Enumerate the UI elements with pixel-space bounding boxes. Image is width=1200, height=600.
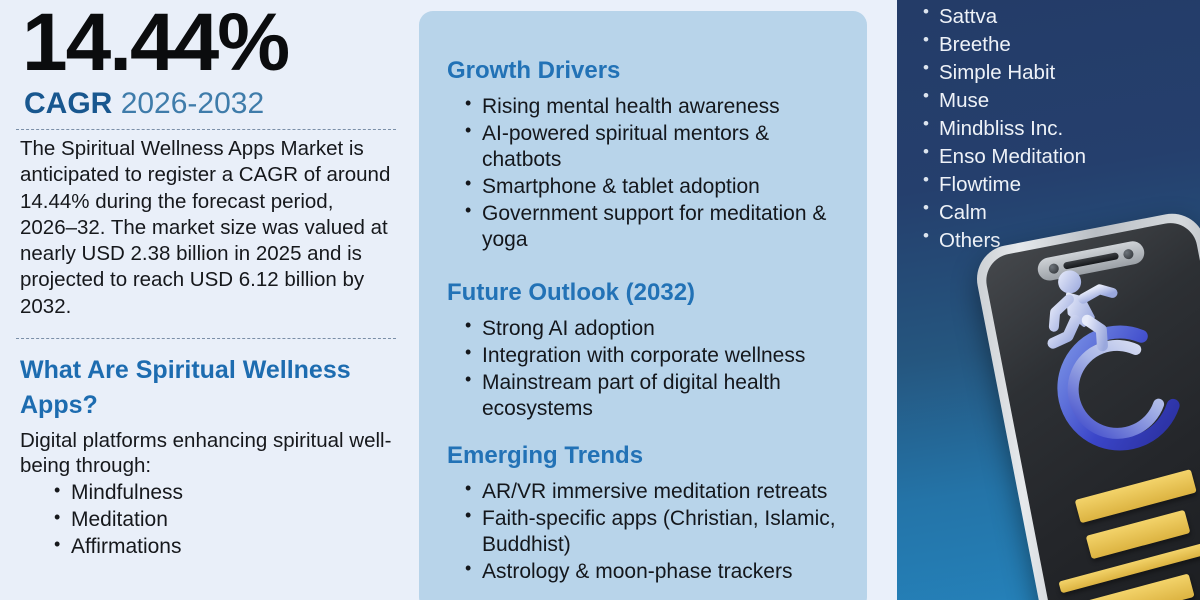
definition-lead: Digital platforms enhancing spiritual we…: [14, 428, 400, 478]
list-item: Flowtime: [923, 172, 1200, 197]
growth-drivers-list: Rising mental health awareness AI-powere…: [447, 94, 851, 253]
phone-body: [971, 208, 1200, 600]
list-item: Integration with corporate wellness: [465, 343, 851, 369]
future-outlook-list: Strong AI adoption Integration with corp…: [447, 316, 851, 422]
list-item: Muse: [923, 88, 1200, 113]
phone-screen: [982, 218, 1200, 600]
list-item: AI-powered spiritual mentors & chatbots: [465, 121, 851, 173]
list-item: Simple Habit: [923, 60, 1200, 85]
list-item: Mindbliss Inc.: [923, 116, 1200, 141]
list-item: Faith-specific apps (Christian, Islamic,…: [465, 506, 851, 558]
list-item: AR/VR immersive meditation retreats: [465, 479, 851, 505]
cagr-subtitle: CAGR 2026-2032: [14, 87, 400, 122]
list-item: Sattva: [923, 4, 1200, 29]
left-stats-panel: 14.44% CAGR 2026-2032 The Spiritual Well…: [0, 0, 410, 600]
emerging-trends-heading: Emerging Trends: [447, 442, 851, 470]
running-figure-icon: [1034, 259, 1136, 364]
divider-bottom: [16, 338, 396, 339]
middle-insights-card: Growth Drivers Rising mental health awar…: [419, 11, 867, 600]
list-item: Enso Meditation: [923, 144, 1200, 169]
infographic-root: 14.44% CAGR 2026-2032 The Spiritual Well…: [0, 0, 1200, 600]
market-summary-text: The Spiritual Wellness Apps Market is an…: [14, 136, 400, 320]
list-item: Affirmations: [54, 534, 400, 561]
list-item: Smartphone & tablet adoption: [465, 174, 851, 200]
list-item: Rising mental health awareness: [465, 94, 851, 120]
list-item: Meditation: [54, 507, 400, 534]
future-outlook-heading: Future Outlook (2032): [447, 279, 851, 307]
emerging-trends-list: AR/VR immersive meditation retreats Fait…: [447, 479, 851, 585]
smartphone-illustration: [897, 212, 1200, 600]
list-item: Breethe: [923, 32, 1200, 57]
growth-drivers-heading: Growth Drivers: [447, 57, 851, 85]
definition-heading: What Are Spiritual Wellness Apps?: [14, 353, 400, 424]
cagr-label: CAGR: [24, 87, 112, 120]
right-companies-panel: Sattva Breethe Simple Habit Muse Mindbli…: [897, 0, 1200, 600]
list-item: Government support for meditation & yoga: [465, 201, 851, 253]
divider-top: [16, 129, 396, 130]
cagr-value: 14.44%: [14, 4, 400, 83]
list-item: Strong AI adoption: [465, 316, 851, 342]
cagr-years: 2026-2032: [121, 87, 264, 120]
sensor-icon: [1122, 248, 1134, 260]
list-item: Mainstream part of digital health ecosys…: [465, 370, 851, 422]
definition-list: Mindfulness Meditation Affirmations: [14, 480, 400, 561]
list-item: Astrology & moon-phase trackers: [465, 559, 851, 585]
list-item: Mindfulness: [54, 480, 400, 507]
